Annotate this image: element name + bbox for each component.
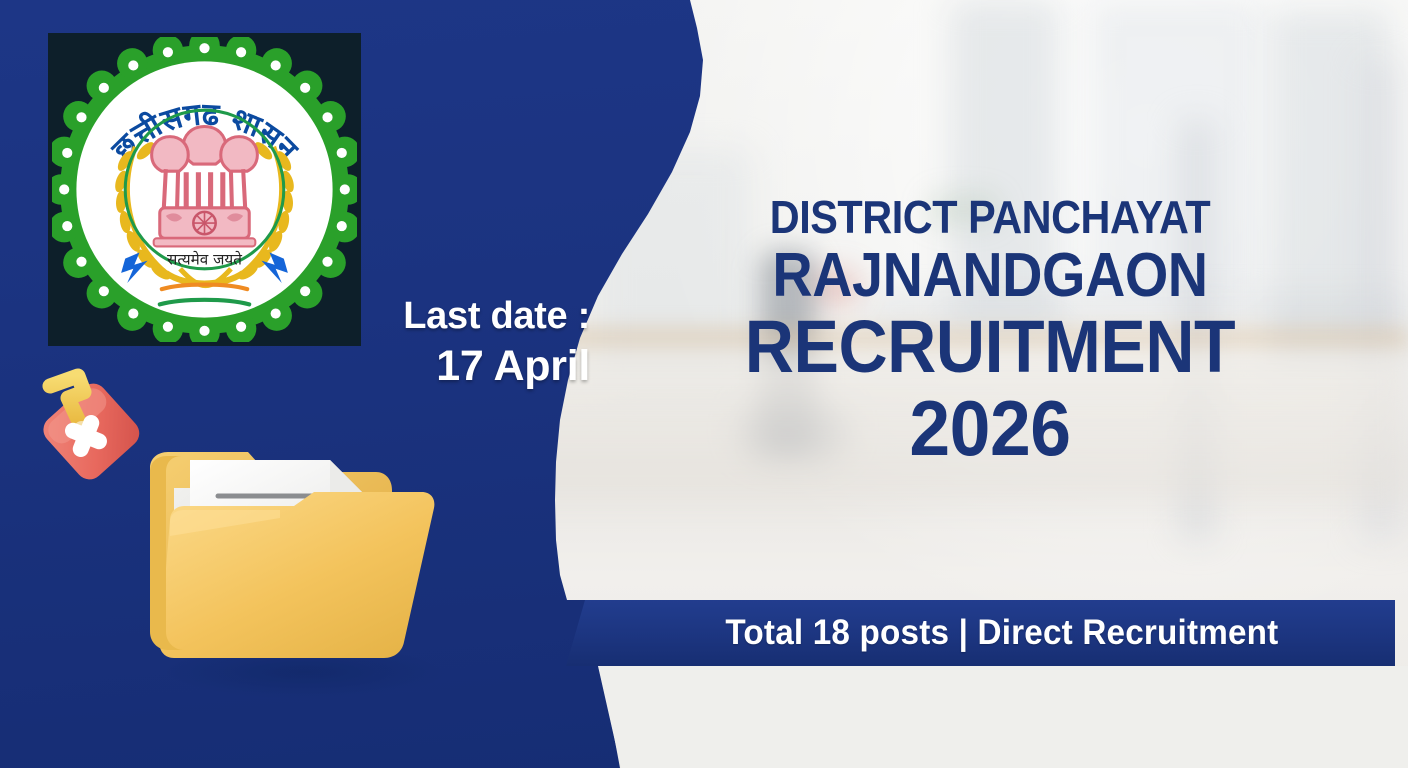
svg-text:सत्यमेव जयते: सत्यमेव जयते [167,251,242,269]
headline-line-1: DISTRICT PANCHAYAT [675,190,1305,244]
recruitment-banner: छत्तीसगढ़ शासन [0,0,1408,768]
headline-line-4: 2026 [661,386,1319,470]
footer-bar: Total 18 posts | Direct Recruitment [566,600,1395,666]
headline-line-3: RECRUITMENT [668,308,1312,386]
folder-document-icon [130,360,460,700]
footer-bar-text: Total 18 posts | Direct Recruitment [682,613,1279,653]
headline-block: DISTRICT PANCHAYAT RAJNANDGAON RECRUITME… [640,190,1340,470]
headline-line-2: RAJNANDGAON [675,244,1305,308]
last-date-label: Last date : [250,292,590,340]
